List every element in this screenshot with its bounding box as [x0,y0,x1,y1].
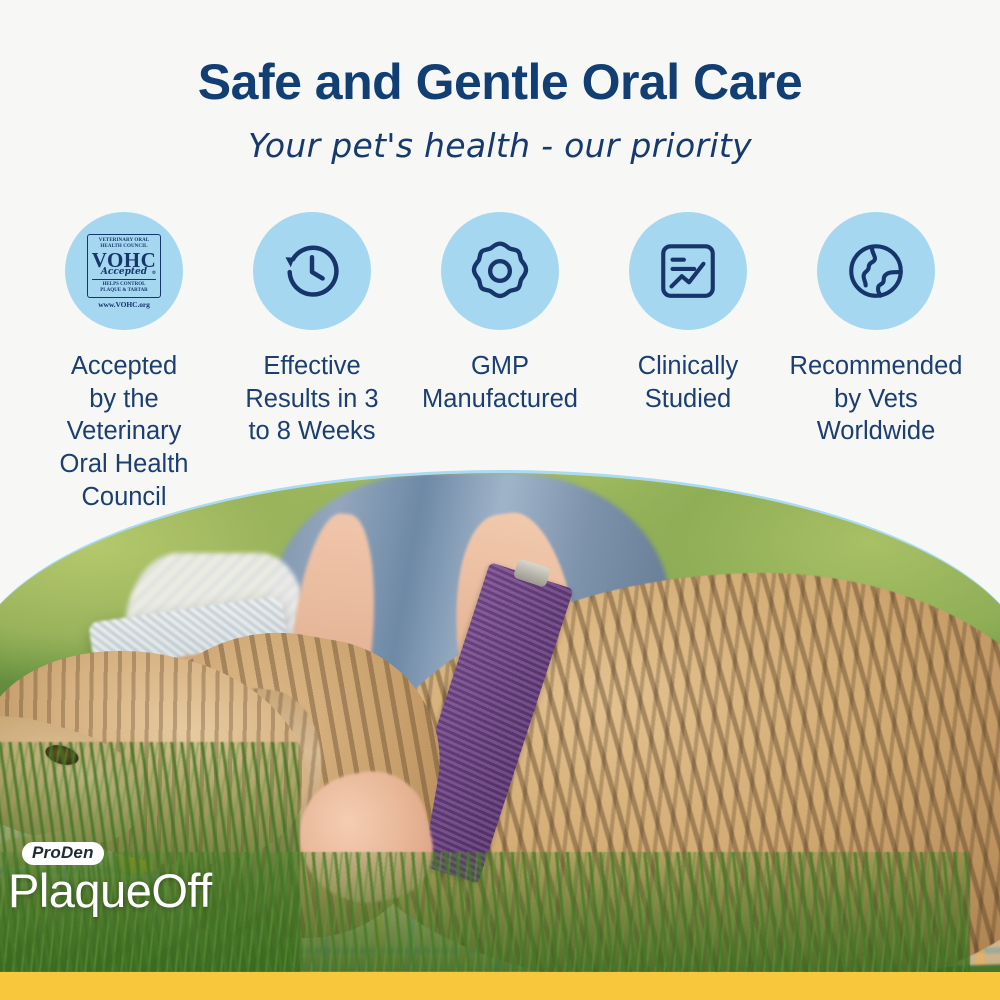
vohc-accepted-text: Accepted ® [101,268,147,277]
badge-circle-chart [629,212,747,330]
badge-circle-vohc: VETERINARY ORAL HEALTH COUNCIL VOHC Acce… [65,212,183,330]
brand-logo: ProDen PlaqueOff [8,842,212,914]
brand-logo-prefix: ProDen [22,842,104,865]
benefit-item-gmp: GMP Manufactured [406,212,594,415]
badge-circle-globe [817,212,935,330]
clock-arrow-icon [278,237,346,305]
badge-circle-clock [253,212,371,330]
vohc-sub-line: HELPS CONTROL PLAQUE & TARTAR [92,282,156,295]
page-title: Safe and Gentle Oral Care [0,55,1000,109]
bottom-accent-bar [0,972,1000,1000]
benefit-item-effective-results: Effective Results in 3 to 8 Weeks [218,212,406,448]
hero-photo-clip: ProDen PlaqueOff [0,470,1000,972]
vohc-seal-icon: VETERINARY ORAL HEALTH COUNCIL VOHC Acce… [82,229,166,313]
benefit-label-clinically-studied: Clinically Studied [638,350,739,415]
badge-circle-gear [441,212,559,330]
globe-icon [843,238,909,304]
benefit-item-clinically-studied: Clinically Studied [594,212,782,415]
brand-logo-name: PlaqueOff [8,867,212,914]
chart-line-icon [655,238,721,304]
benefit-item-vohc: VETERINARY ORAL HEALTH COUNCIL VOHC Acce… [30,212,218,513]
benefits-row: VETERINARY ORAL HEALTH COUNCIL VOHC Acce… [30,212,970,513]
vohc-url-text: www.VOHC.org [98,301,150,309]
gear-icon [465,236,535,306]
benefit-item-recommended-by-vets: Recommended by Vets Worldwide [782,212,970,448]
benefit-label-recommended-by-vets: Recommended by Vets Worldwide [790,350,963,448]
hero-photo: ProDen PlaqueOff [0,470,1000,972]
page-subtitle: Your pet's health - our priority [0,128,1000,164]
benefit-label-gmp: GMP Manufactured [422,350,578,415]
vohc-divider [92,279,156,280]
vohc-registered-mark: ® [152,272,157,277]
vohc-accepted-word: Accepted [101,267,147,277]
marketing-banner: Safe and Gentle Oral Care Your pet's hea… [0,0,1000,1000]
benefit-label-effective-results: Effective Results in 3 to 8 Weeks [245,350,378,448]
